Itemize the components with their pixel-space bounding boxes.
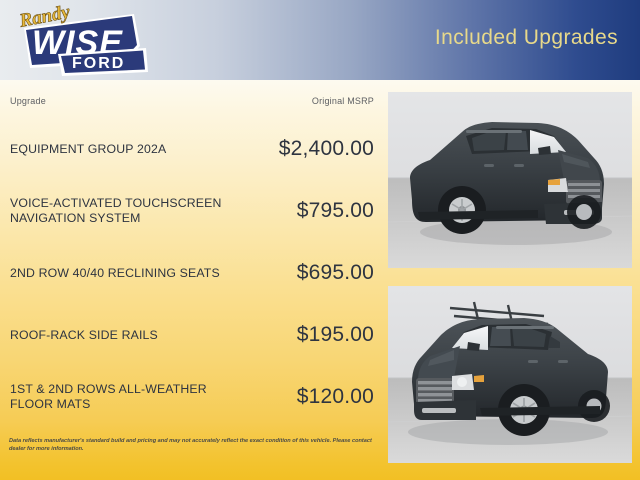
vehicle-photo-front-right xyxy=(388,92,632,268)
disclaimer-text: Data reflects manufacturer's standard bu… xyxy=(9,437,377,453)
upgrade-price: $2,400.00 xyxy=(279,137,382,161)
upgrade-price: $120.00 xyxy=(297,385,382,409)
table-row: VOICE-ACTIVATED TOUCHSCREEN NAVIGATION S… xyxy=(0,180,382,242)
column-header-msrp: Original MSRP xyxy=(312,96,374,106)
table-body: EQUIPMENT GROUP 202A $2,400.00 VOICE-ACT… xyxy=(0,118,382,428)
column-header-upgrade: Upgrade xyxy=(10,96,46,106)
upgrade-label: 2ND ROW 40/40 RECLINING SEATS xyxy=(0,266,220,281)
upgrades-slide: WISE Randy FORD Included Upgrades Upgrad… xyxy=(0,0,640,480)
upgrade-price: $795.00 xyxy=(297,199,382,223)
upgrade-label: EQUIPMENT GROUP 202A xyxy=(0,142,166,157)
table-header-row: Upgrade Original MSRP xyxy=(0,96,382,112)
page-title: Included Upgrades xyxy=(435,26,618,50)
header-bar: WISE Randy FORD Included Upgrades xyxy=(0,0,640,80)
upgrade-price: $195.00 xyxy=(297,323,382,347)
upgrade-label: ROOF-RACK SIDE RAILS xyxy=(0,328,158,343)
upgrades-table: Upgrade Original MSRP EQUIPMENT GROUP 20… xyxy=(0,80,382,480)
upgrade-price: $695.00 xyxy=(297,261,382,285)
table-row: ROOF-RACK SIDE RAILS $195.00 xyxy=(0,304,382,366)
upgrade-label: VOICE-ACTIVATED TOUCHSCREEN NAVIGATION S… xyxy=(0,196,250,226)
svg-text:FORD: FORD xyxy=(72,55,125,72)
upgrade-label: 1ST & 2ND ROWS ALL-WEATHER FLOOR MATS xyxy=(0,382,250,412)
dealer-logo: WISE Randy FORD xyxy=(6,2,152,80)
vehicle-photo-front-left xyxy=(388,286,632,463)
table-row: 2ND ROW 40/40 RECLINING SEATS $695.00 xyxy=(0,242,382,304)
table-row: 1ST & 2ND ROWS ALL-WEATHER FLOOR MATS $1… xyxy=(0,366,382,428)
table-row: EQUIPMENT GROUP 202A $2,400.00 xyxy=(0,118,382,180)
